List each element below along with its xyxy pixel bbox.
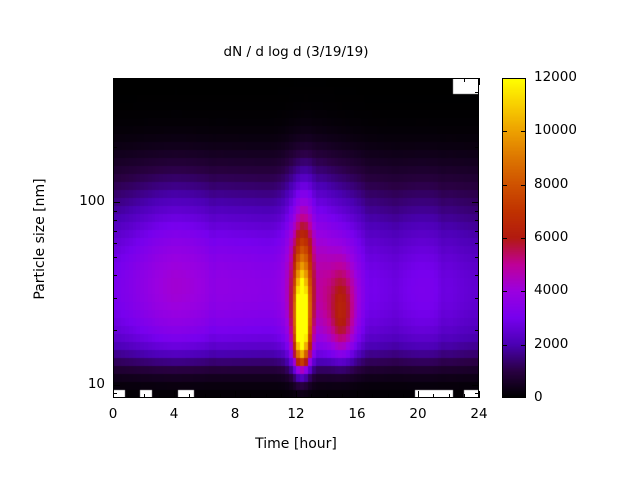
x-axis-label: Time [hour] [113,436,479,452]
colorbar-tick-right [521,238,526,239]
y-tick-major [113,385,120,386]
x-tick-major [418,391,419,398]
colorbar-tick-right [521,185,526,186]
y-tick-minor-right [475,257,479,258]
x-tick-minor-top [159,78,160,82]
y-tick-major [113,202,120,203]
x-tick-minor [327,394,328,398]
x-tick-minor-top [128,78,129,82]
y-tick-minor [113,231,117,232]
x-tick-label: 8 [205,407,265,422]
x-tick-minor [159,394,160,398]
x-tick-minor-top [433,78,434,82]
x-tick-major [479,391,480,398]
x-tick-label: 24 [449,407,509,422]
x-tick-minor-top [250,78,251,82]
x-tick-major [174,391,175,398]
y-tick-minor [113,298,117,299]
x-tick-major-top [296,78,297,85]
x-tick-minor-top [311,78,312,82]
colorbar-tick-right [521,345,526,346]
x-tick-major [235,391,236,398]
y-tick-minor-right [475,330,479,331]
x-tick-label: 12 [266,407,326,422]
colorbar-tick-label: 4000 [534,283,568,298]
y-tick-minor [113,330,117,331]
colorbar-tick-label: 8000 [534,177,568,192]
x-tick-minor [220,394,221,398]
x-tick-minor-top [266,78,267,82]
x-tick-minor [449,394,450,398]
x-tick-minor [266,394,267,398]
x-tick-label: 20 [388,407,448,422]
y-tick-minor-right [475,243,479,244]
x-tick-minor-top [281,78,282,82]
colorbar-tick [502,131,507,132]
x-tick-minor-top [220,78,221,82]
x-tick-minor-top [464,78,465,82]
x-tick-minor [372,394,373,398]
x-tick-minor-top [388,78,389,82]
colorbar-tick-right [521,131,526,132]
y-tick-label: 10 [39,377,105,392]
x-tick-major-top [235,78,236,85]
y-tick-label: 100 [39,194,105,209]
x-tick-minor [311,394,312,398]
x-tick-minor-top [327,78,328,82]
heatmap-plot-area[interactable] [113,78,479,398]
x-tick-minor [189,394,190,398]
x-tick-minor-top [372,78,373,82]
x-tick-minor [342,394,343,398]
colorbar-tick-label: 0 [534,390,543,405]
colorbar-tick-label: 6000 [534,230,568,245]
x-tick-minor [388,394,389,398]
y-tick-minor [113,115,117,116]
y-tick-minor [113,92,117,93]
x-tick-major-top [357,78,358,85]
y-tick-minor-right [475,393,479,394]
x-tick-minor [403,394,404,398]
page-title: dN / d log d (3/19/19) [113,44,479,60]
y-tick-minor [113,147,117,148]
x-tick-major-top [418,78,419,85]
colorbar-tick [502,345,507,346]
colorbar-tick-label: 10000 [534,123,577,138]
colorbar-tick-right [521,291,526,292]
heatmap-image [113,78,479,398]
x-tick-minor-top [189,78,190,82]
y-tick-major-right [472,202,479,203]
colorbar-tick-label: 2000 [534,337,568,352]
colorbar-tick [502,238,507,239]
y-tick-minor-right [475,275,479,276]
colorbar-tick [502,291,507,292]
y-tick-minor-right [475,298,479,299]
x-tick-minor-top [205,78,206,82]
x-tick-minor-top [144,78,145,82]
x-tick-label: 0 [83,407,143,422]
y-tick-minor-right [475,92,479,93]
y-tick-minor [113,257,117,258]
x-tick-minor [144,394,145,398]
y-tick-major-right [472,385,479,386]
x-tick-major [296,391,297,398]
x-tick-major [113,391,114,398]
colorbar-tick-label: 12000 [534,70,577,85]
y-axis-label: Particle size [nm] [32,139,48,339]
y-tick-minor [113,243,117,244]
x-tick-minor-top [403,78,404,82]
x-tick-major-top [174,78,175,85]
x-tick-minor-top [449,78,450,82]
colorbar-tick [502,185,507,186]
x-tick-minor-top [342,78,343,82]
y-tick-minor [113,211,117,212]
x-tick-minor [433,394,434,398]
y-tick-minor-right [475,220,479,221]
y-tick-minor [113,393,117,394]
figure-canvas: dN / d log d (3/19/19) 04812162024 10100… [0,0,640,480]
x-tick-minor [464,394,465,398]
x-tick-label: 4 [144,407,204,422]
x-tick-label: 16 [327,407,387,422]
x-tick-minor [205,394,206,398]
y-tick-minor-right [475,211,479,212]
x-tick-minor [128,394,129,398]
x-tick-major [357,391,358,398]
x-tick-major-top [113,78,114,85]
y-tick-minor [113,275,117,276]
y-tick-minor-right [475,115,479,116]
y-tick-minor-right [475,231,479,232]
x-tick-major-top [479,78,480,85]
y-tick-minor-right [475,147,479,148]
y-tick-minor [113,220,117,221]
x-tick-minor [281,394,282,398]
x-tick-minor [250,394,251,398]
